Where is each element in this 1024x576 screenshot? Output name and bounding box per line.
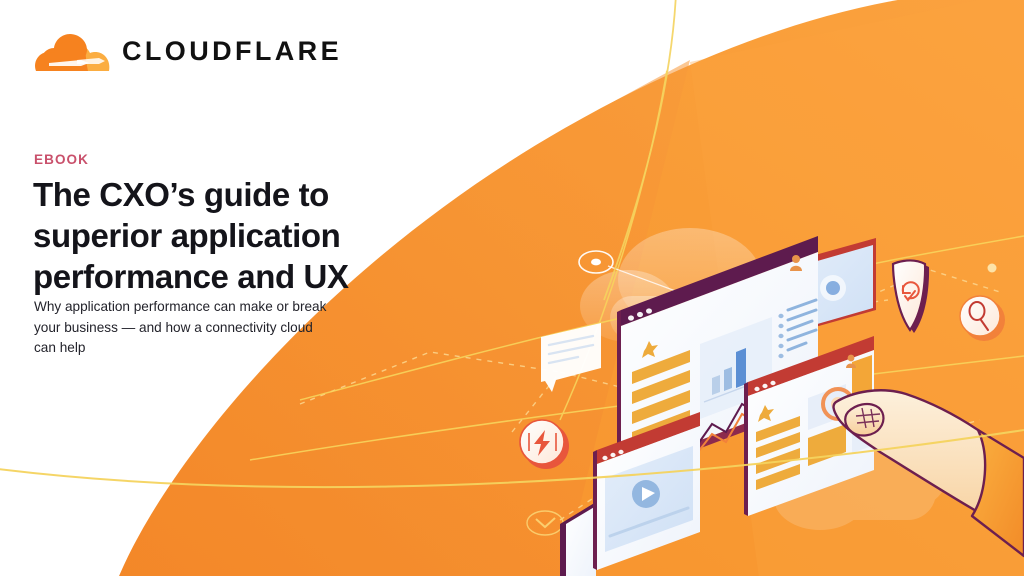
cloudflare-wordmark: CLOUDFLARE [122, 38, 342, 65]
play-button-icon [632, 480, 660, 508]
ebook-cover: CLOUDFLARE EBOOK The CXO’s guide to supe… [0, 0, 1024, 576]
cloudflare-cloud-logo-icon [33, 30, 111, 72]
eyebrow-label: EBOOK [34, 152, 89, 167]
page-subtitle: Why application performance can make or … [34, 297, 334, 359]
node-marker-dot-right [988, 264, 997, 273]
cloudflare-logo[interactable]: CLOUDFLARE [33, 30, 342, 72]
page-title: The CXO’s guide to superior application … [33, 175, 423, 298]
cover-text-column: CLOUDFLARE EBOOK The CXO’s guide to supe… [33, 0, 433, 576]
